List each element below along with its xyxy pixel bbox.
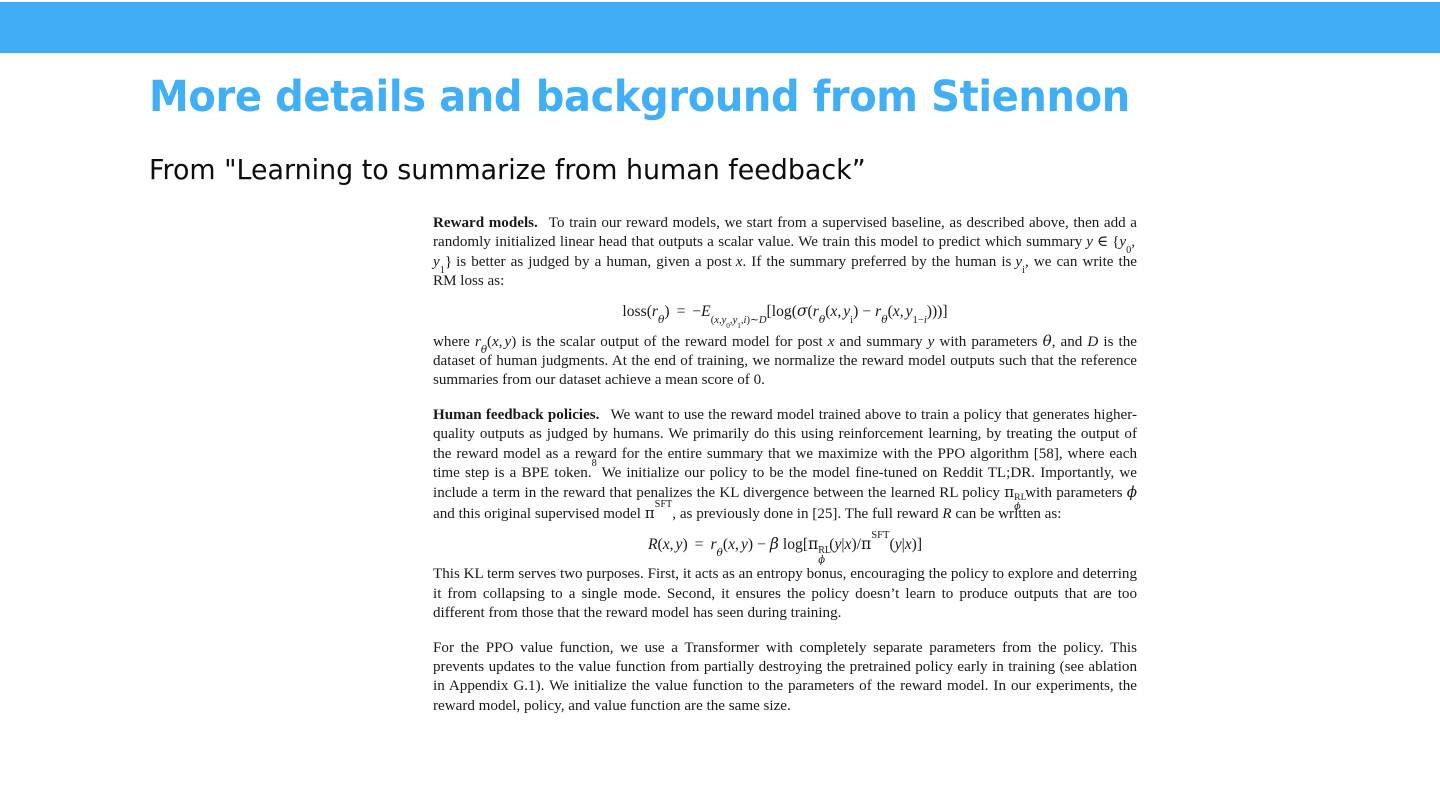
paragraph-reward-models-text-c: . If the summary preferred by the human … <box>742 254 1011 270</box>
math-y-in-set: y <box>1086 234 1093 250</box>
where-text: where rθ(x,y) is the scalar output of th… <box>433 334 1137 389</box>
footnote-marker-8: 8 <box>592 458 597 469</box>
paragraph-reward-models-text-b: is better as judged by a human, given a … <box>456 254 732 270</box>
runin-heading-human-feedback-policies: Human feedback policies. <box>433 407 599 423</box>
page-title: More details and background from Stienno… <box>149 71 1130 123</box>
paper-excerpt: Reward models.To train our reward models… <box>433 214 1137 716</box>
human-feedback-policies-text: We want to use the reward model trained … <box>433 407 1137 522</box>
paragraph-human-feedback-policies: Human feedback policies.We want to use t… <box>433 406 1137 524</box>
paragraph-reward-models-text-a: To train our reward models, we start fro… <box>433 215 1137 250</box>
top-accent-bar <box>0 2 1440 53</box>
runin-heading-reward-models: Reward models. <box>433 215 538 231</box>
slide-canvas: More details and background from Stienno… <box>0 0 1440 810</box>
paragraph-ppo-value-function: For the PPO value function, we use a Tra… <box>433 639 1137 717</box>
equation-full-reward: R(x,y)=rθ(x,y)−βlog[πRLϕ(y|x)/πSFT(y|x)] <box>433 532 1137 557</box>
paragraph-where-clause: where rθ(x,y) is the scalar output of th… <box>433 332 1137 391</box>
page-subtitle: From "Learning to summarize from human f… <box>149 152 866 188</box>
equation-rm-loss: loss(rθ)=−E(x,y0,y1,i)∼D[log(σ(rθ(x,yi)−… <box>433 299 1137 324</box>
paragraph-reward-models: Reward models.To train our reward models… <box>433 214 1137 292</box>
paragraph-kl-term: This KL term serves two purposes. First,… <box>433 565 1137 623</box>
